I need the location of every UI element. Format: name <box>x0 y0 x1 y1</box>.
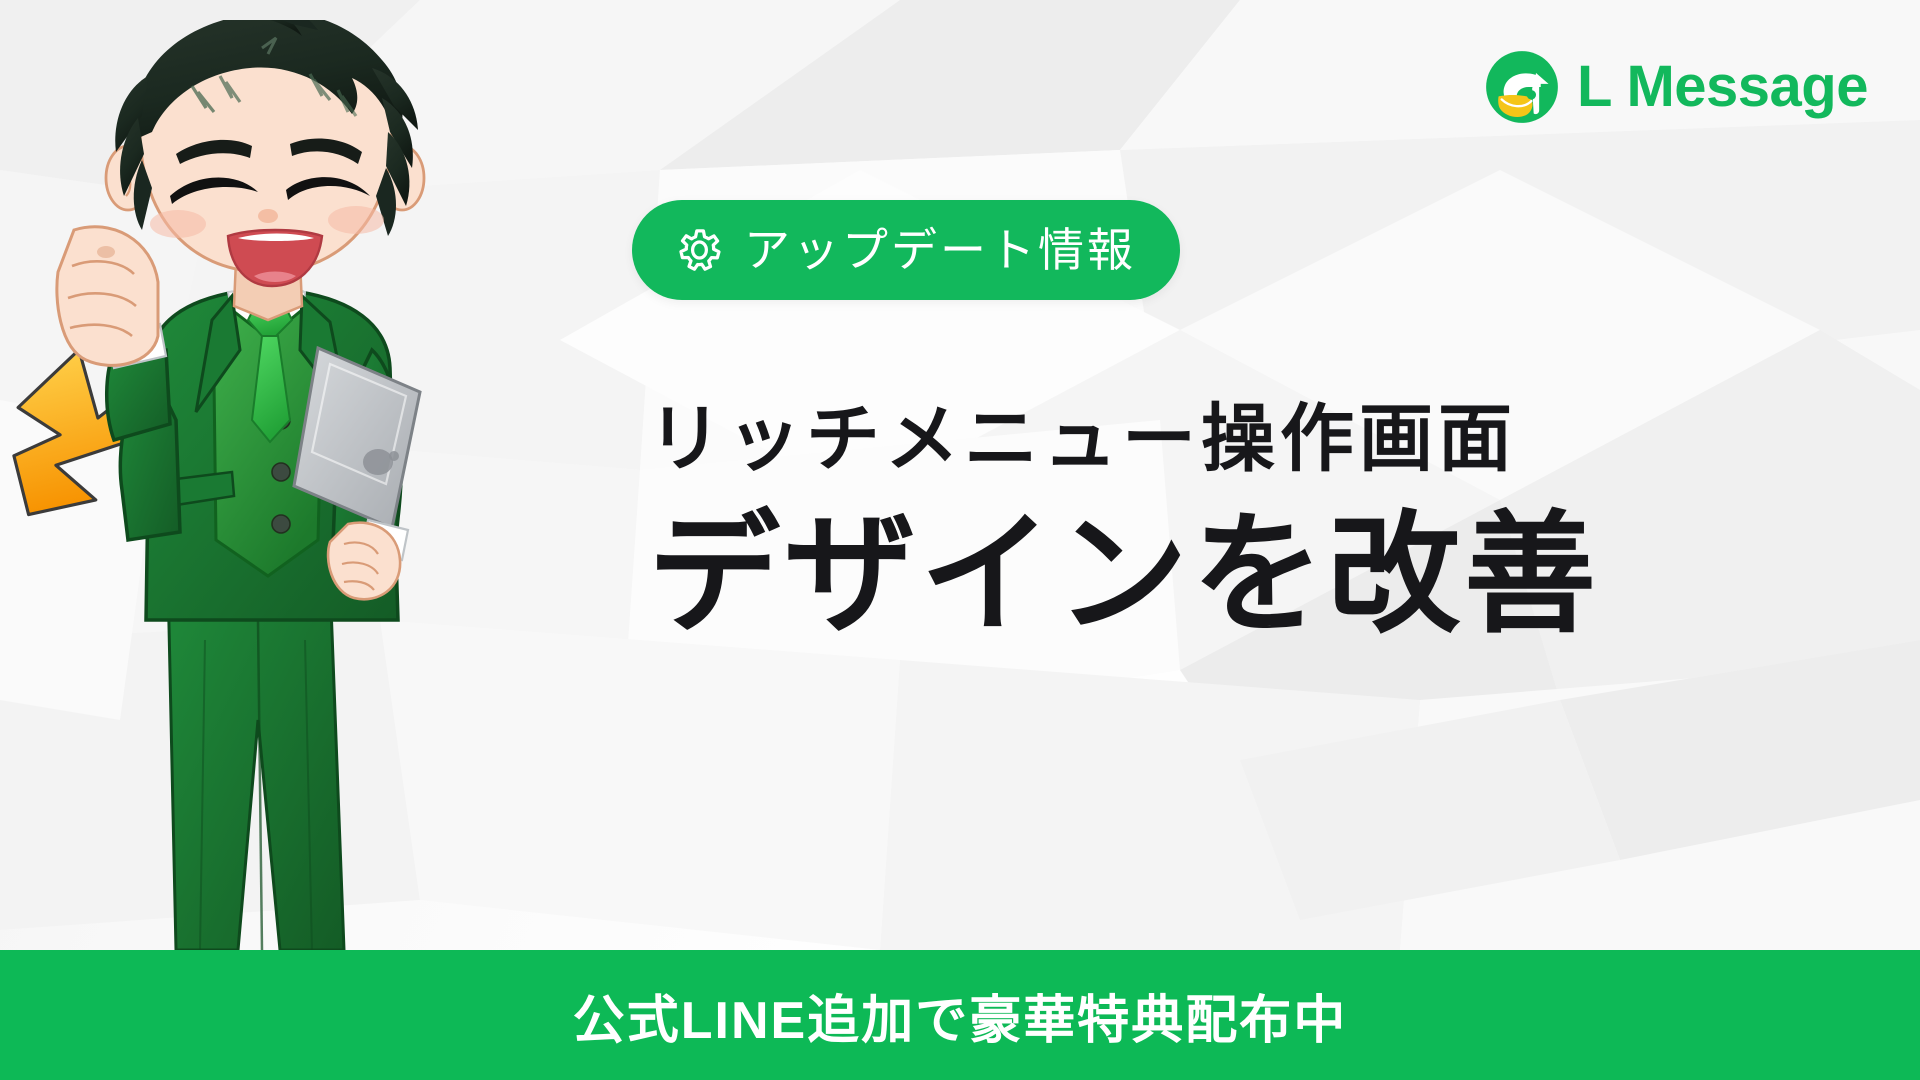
nose <box>258 209 278 223</box>
mascot-illustration <box>0 20 520 970</box>
gear-icon <box>676 227 722 273</box>
blush-left <box>150 210 206 238</box>
cta-bottom-bar[interactable]: 公式LINE追加で豪華特典配布中 <box>0 950 1920 1080</box>
l-message-logo-icon <box>1483 48 1561 126</box>
blush-right <box>328 206 384 234</box>
promo-banner: L Message アップデート情報 リッチメニュー操作画面 デザインを改善 公… <box>0 0 1920 1080</box>
trousers <box>168 580 344 950</box>
mascot-svg <box>0 20 520 970</box>
brand-logo-text: L Message <box>1577 58 1868 116</box>
headline-subtitle: リッチメニュー操作画面 <box>648 400 1868 478</box>
tablet-logo <box>363 449 393 475</box>
hand-right <box>328 523 400 600</box>
vest-button <box>272 515 290 533</box>
vest-button <box>272 463 290 481</box>
badge-label: アップデート情報 <box>744 227 1136 273</box>
headline-block: リッチメニュー操作画面 デザインを改善 <box>648 400 1868 646</box>
cta-bottom-bar-text: 公式LINE追加で豪華特典配布中 <box>573 978 1347 1053</box>
headline-title: デザインを改善 <box>648 504 1868 647</box>
update-info-badge[interactable]: アップデート情報 <box>632 200 1180 300</box>
brand-logo[interactable]: L Message <box>1483 48 1868 126</box>
